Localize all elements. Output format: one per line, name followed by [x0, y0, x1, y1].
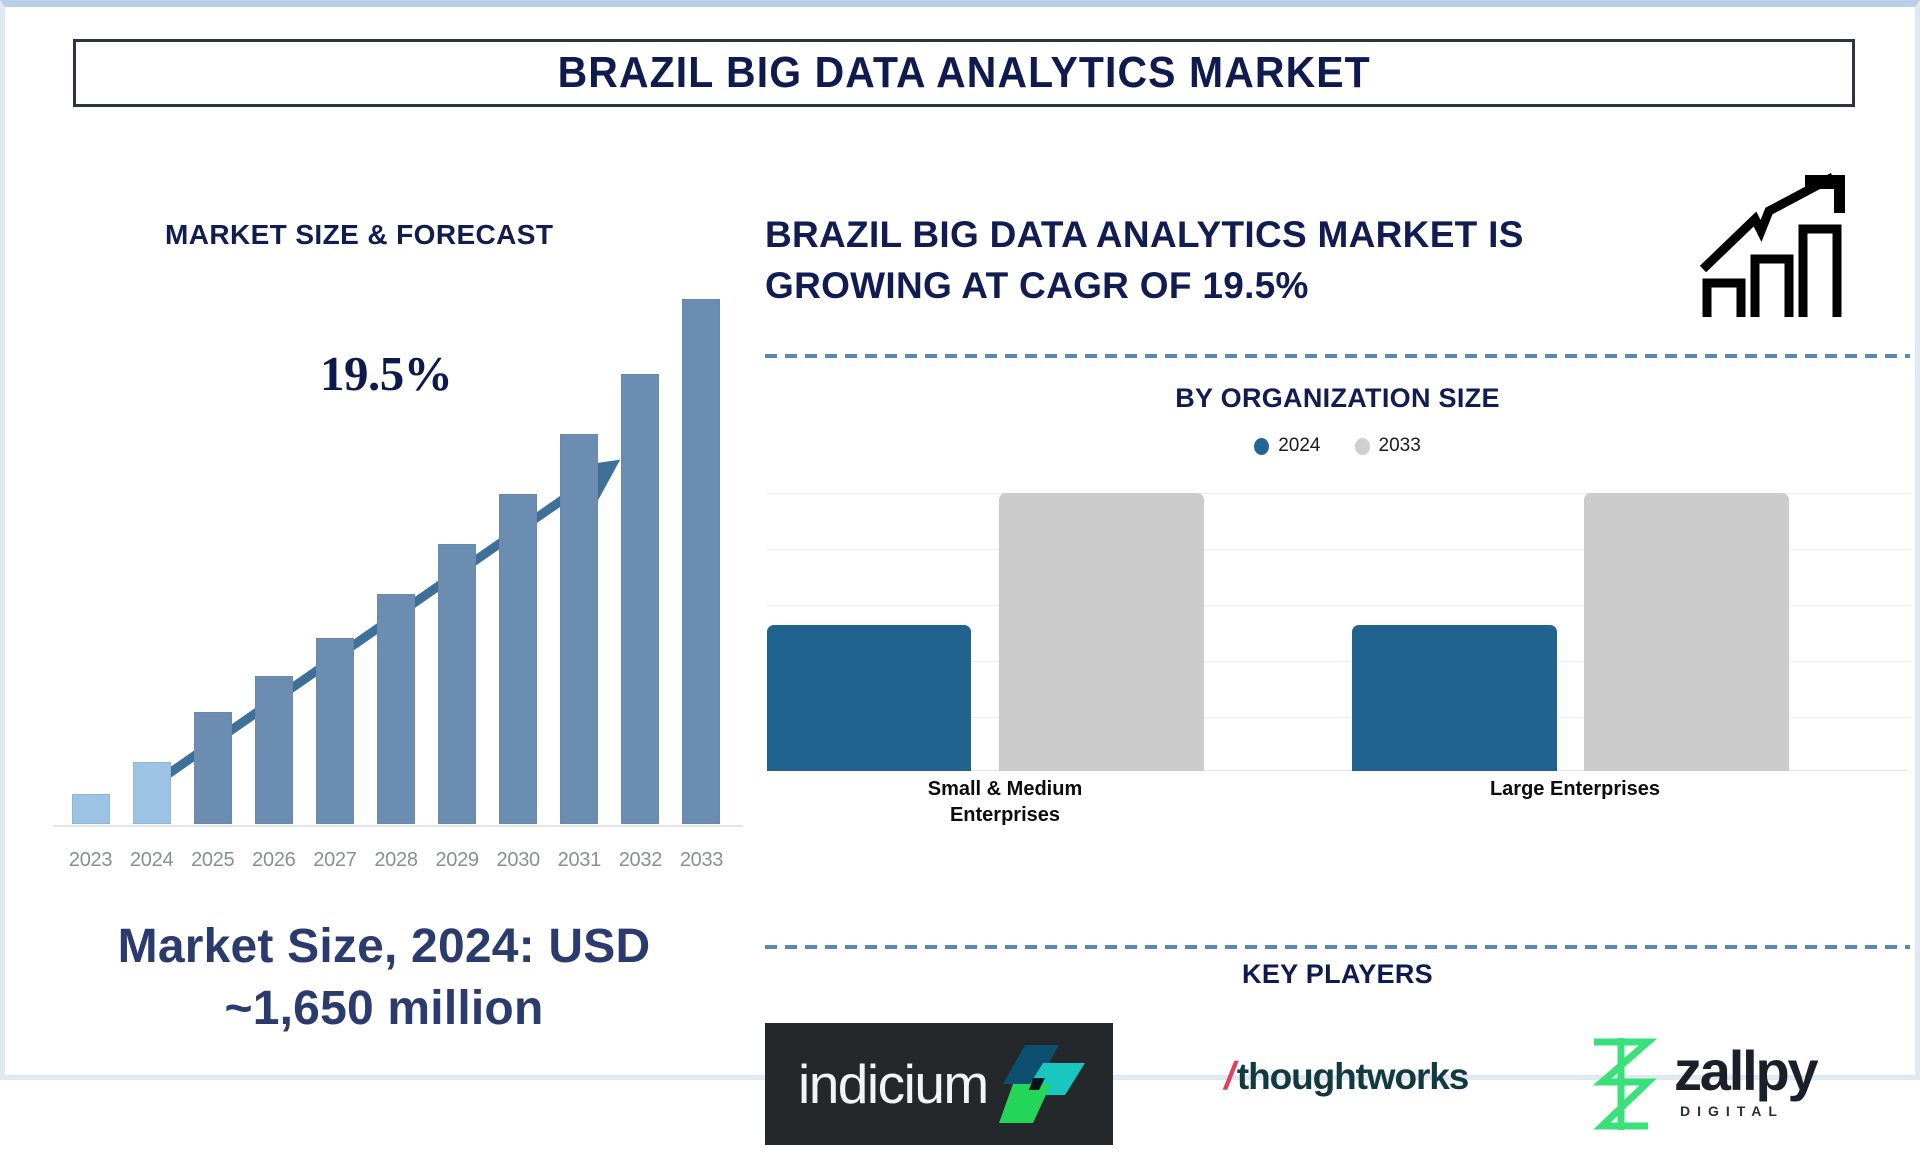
- thoughtworks-wordmark: thoughtworks: [1237, 1058, 1468, 1095]
- logo-zallpy[interactable]: zallpy DIGITAL: [1582, 1029, 1872, 1139]
- bar-2023: [72, 794, 110, 824]
- bar-2024: [133, 762, 171, 824]
- organization-size-bar-chart: [767, 473, 1909, 771]
- year-label: 2030: [488, 849, 549, 872]
- cagr-headline: BRAZIL BIG DATA ANALYTICS MARKET IS GROW…: [765, 209, 1695, 311]
- year-label: 2028: [365, 849, 426, 872]
- year-label: 2025: [182, 849, 243, 872]
- year-label: 2023: [60, 849, 121, 872]
- bar-2025: [194, 712, 232, 824]
- legend-item-2033: 2033: [1355, 435, 1421, 457]
- year-label: 2033: [671, 849, 732, 872]
- year-label: 2031: [549, 849, 610, 872]
- bar-2033: [682, 299, 720, 824]
- category-label-large: Large Enterprises: [1430, 777, 1720, 803]
- page-title: BRAZIL BIG DATA ANALYTICS MARKET: [557, 48, 1370, 98]
- zallpy-wordmark: zallpy: [1674, 1043, 1816, 1099]
- bar-sme-2033: [999, 493, 1204, 771]
- bar-2031: [560, 434, 598, 824]
- market-size-line-2: ~1,650 million: [39, 978, 729, 1039]
- zallpy-tagline: DIGITAL: [1680, 1103, 1784, 1119]
- zallpy-z-mark-icon: [1582, 1034, 1660, 1134]
- category-axis-labels: Small & Medium Enterprises Large Enterpr…: [767, 777, 1909, 847]
- bar-slot: [304, 264, 365, 824]
- bar-slot: [121, 264, 182, 824]
- bar-slot: [365, 264, 426, 824]
- legend-label: 2033: [1379, 435, 1421, 457]
- right-panel: BRAZIL BIG DATA ANALYTICS MARKET IS GROW…: [753, 117, 1918, 1077]
- by-organization-size-heading: BY ORGANIZATION SIZE: [765, 383, 1910, 414]
- category-label-sme: Small & Medium Enterprises: [875, 777, 1135, 828]
- divider-top: [765, 354, 1910, 358]
- bar-slot: [610, 264, 671, 824]
- market-size-value: Market Size, 2024: USD ~1,650 million: [39, 916, 729, 1039]
- bar-2032: [621, 374, 659, 824]
- bar-2028: [377, 594, 415, 824]
- indicium-chevron-mark-icon: [999, 1045, 1085, 1123]
- page-title-box: BRAZIL BIG DATA ANALYTICS MARKET: [73, 39, 1855, 107]
- bar-2026: [255, 676, 293, 824]
- bar-slot: [427, 264, 488, 824]
- divider-bottom: [765, 945, 1910, 949]
- key-players-logos: indicium / thoughtworks: [765, 1005, 1910, 1155]
- bar-2027: [316, 638, 354, 824]
- market-size-bar-chart: [60, 264, 732, 824]
- bar-slot: [243, 264, 304, 824]
- bar-2030: [499, 494, 537, 824]
- year-label: 2029: [427, 849, 488, 872]
- bar-slot: [60, 264, 121, 824]
- bar-2029: [438, 544, 476, 824]
- legend-label: 2024: [1278, 435, 1320, 457]
- bar-sme-2024: [767, 625, 971, 771]
- chart-legend: 2024 2033: [765, 435, 1910, 457]
- growth-chart-arrow-icon: [1693, 167, 1858, 317]
- x-axis-line: [53, 825, 743, 827]
- legend-item-2024: 2024: [1254, 435, 1320, 457]
- bar-large-2024: [1352, 625, 1557, 771]
- bar-slot: [671, 264, 732, 824]
- bar-large-2033: [1584, 493, 1789, 771]
- infographic-page: BRAZIL BIG DATA ANALYTICS MARKET MARKET …: [0, 0, 1920, 1080]
- indicium-wordmark: indicium: [798, 1057, 988, 1112]
- logo-indicium[interactable]: indicium: [765, 1023, 1113, 1145]
- market-size-line-1: Market Size, 2024: USD: [39, 916, 729, 977]
- logo-thoughtworks[interactable]: / thoughtworks: [1225, 1057, 1468, 1096]
- year-label: 2024: [121, 849, 182, 872]
- year-label: 2026: [243, 849, 304, 872]
- market-size-forecast-heading: MARKET SIZE & FORECAST: [165, 219, 553, 251]
- market-size-forecast-panel: MARKET SIZE & FORECAST 19.5%: [5, 117, 750, 1077]
- year-axis-labels: 2023 2024 2025 2026 2027 2028 2029 2030 …: [60, 849, 732, 872]
- legend-swatch-icon: [1355, 438, 1370, 455]
- key-players-heading: KEY PLAYERS: [765, 959, 1910, 990]
- legend-swatch-icon: [1254, 438, 1269, 455]
- year-label: 2027: [304, 849, 365, 872]
- year-label: 2032: [610, 849, 671, 872]
- bar-slot: [549, 264, 610, 824]
- bar-slot: [488, 264, 549, 824]
- bar-slot: [182, 264, 243, 824]
